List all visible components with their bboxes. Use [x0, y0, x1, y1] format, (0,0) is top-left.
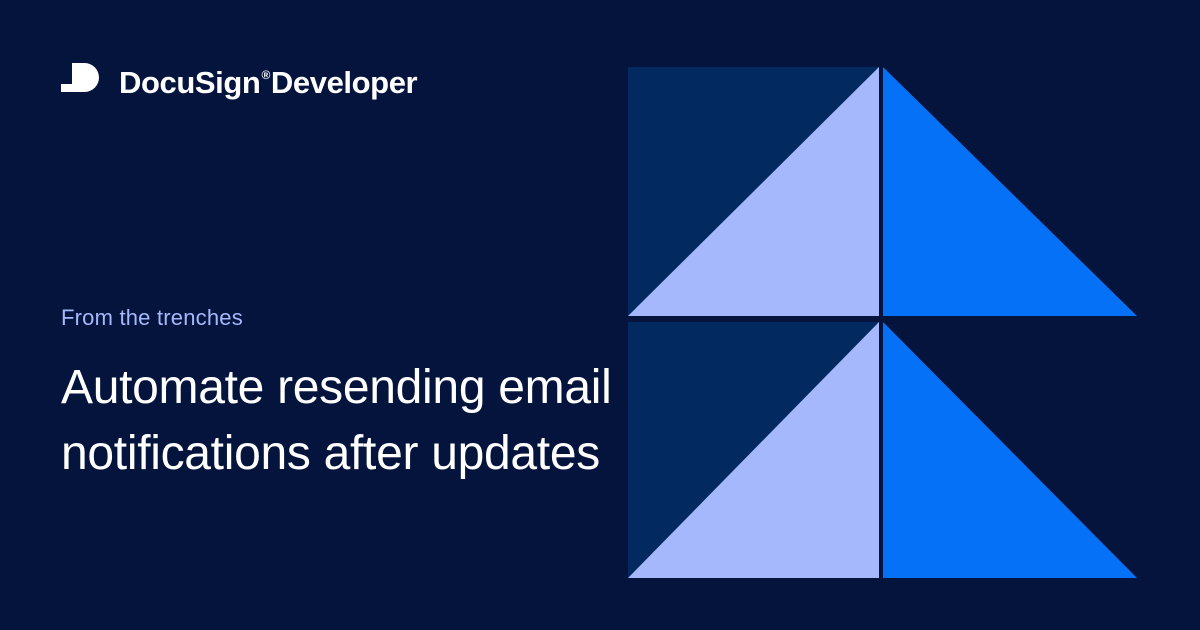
quadrant-triangle-graphic [628, 67, 1137, 578]
decorative-artwork [628, 67, 1137, 578]
brand-lockup: DocuSign®Developer [61, 60, 417, 104]
text-block: From the trenches Automate resending ema… [61, 305, 621, 487]
quadrant-bottom-right-triangle [883, 322, 1137, 578]
page-title: Automate resending email notifications a… [61, 355, 621, 487]
logomark-foot [61, 84, 73, 92]
brand-product: Developer [271, 67, 417, 98]
registered-trademark-icon: ® [261, 69, 269, 81]
brand-wordmark: DocuSign®Developer [119, 67, 417, 98]
logomark-bowl [72, 63, 99, 92]
eyebrow-label: From the trenches [61, 305, 621, 331]
brand-name: DocuSign [119, 67, 260, 98]
quadrant-top-right-triangle [883, 67, 1137, 316]
docusign-d-logomark-icon [61, 62, 103, 102]
social-card: DocuSign®Developer From the trenches Aut… [0, 0, 1200, 630]
